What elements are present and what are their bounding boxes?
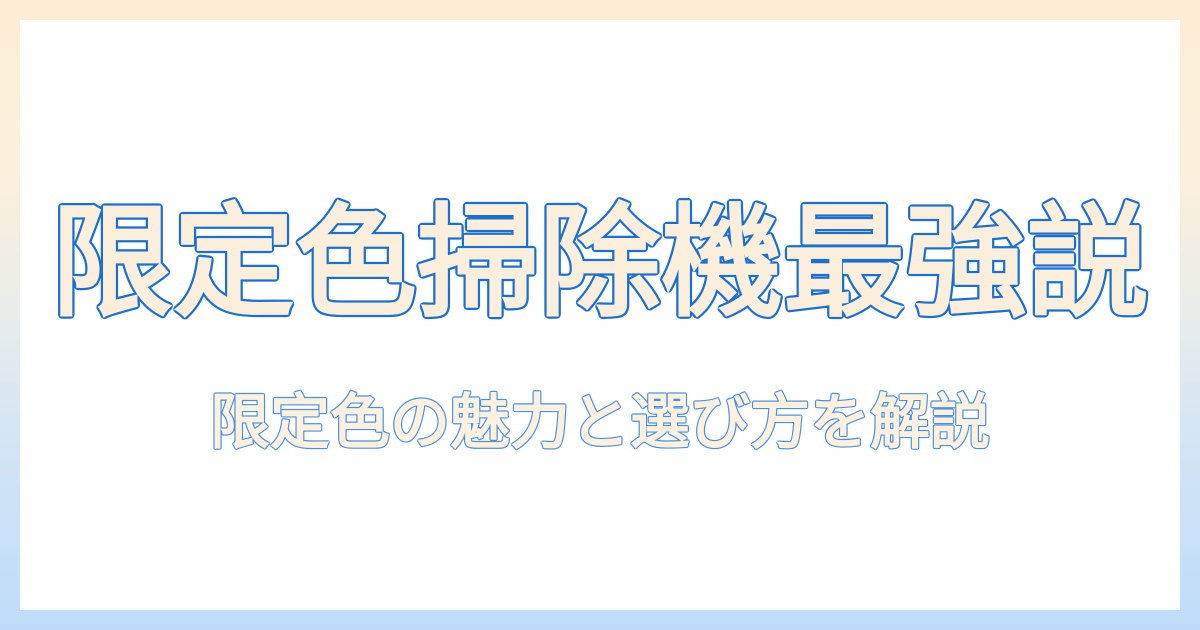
headline-graphic: 限定色掃除機最強説 [20,181,1180,341]
og-image-canvas: 限定色掃除機最強説 限定色の魅力と選び方を解説 [0,0,1200,630]
card-inner-surface: 限定色掃除機最強説 限定色の魅力と選び方を解説 [20,20,1180,610]
headline-container: 限定色掃除機最強説 [20,186,1180,336]
page-title: 限定色掃除機最強説 [51,192,1149,334]
subheadline-container: 限定色の魅力と選び方を解説 [20,382,1180,462]
subheadline-graphic: 限定色の魅力と選び方を解説 [100,379,1100,465]
page-subtitle: 限定色の魅力と選び方を解説 [210,388,990,458]
